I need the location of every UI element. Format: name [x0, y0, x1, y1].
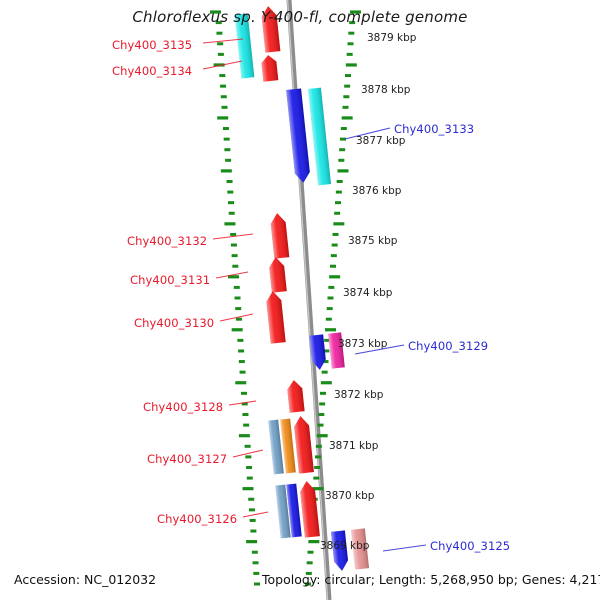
gene-feature[interactable] [308, 88, 331, 186]
leader-line [383, 545, 426, 551]
ruler-label: 3874 kbp [343, 287, 392, 299]
genome-summary-status: Topology: circular; Length: 5,268,950 bp… [262, 572, 600, 587]
ruler-label: 3875 kbp [348, 235, 397, 247]
gene-label-chy400_3129[interactable]: Chy400_3129 [408, 339, 488, 353]
gene-label-chy400_3130[interactable]: Chy400_3130 [134, 316, 214, 330]
gene-label-chy400_3127[interactable]: Chy400_3127 [147, 452, 227, 466]
ruler-label: 3879 kbp [367, 32, 416, 44]
gene-label-chy400_3133[interactable]: Chy400_3133 [394, 122, 474, 136]
gene-label-chy400_3125[interactable]: Chy400_3125 [430, 539, 510, 553]
gene-feature[interactable] [268, 256, 287, 292]
ruler-label: 3876 kbp [352, 185, 401, 197]
ruler-label: 3877 kbp [356, 135, 405, 147]
gene-label-chy400_3132[interactable]: Chy400_3132 [127, 234, 207, 248]
gene-feature[interactable] [265, 290, 285, 343]
ruler-label: 3873 kbp [338, 338, 387, 350]
gene-feature[interactable] [286, 379, 304, 412]
gene-label-chy400_3134[interactable]: Chy400_3134 [112, 64, 192, 78]
gene-feature[interactable] [293, 415, 314, 473]
gene-label-chy400_3135[interactable]: Chy400_3135 [112, 38, 192, 52]
gene-feature[interactable] [261, 54, 279, 81]
gene-label-chy400_3126[interactable]: Chy400_3126 [157, 512, 237, 526]
accession-status: Accession: NC_012032 [14, 572, 156, 587]
gene-feature[interactable] [270, 212, 290, 258]
ruler-label: 3878 kbp [361, 84, 410, 96]
gene-label-chy400_3131[interactable]: Chy400_3131 [130, 273, 210, 287]
leader-line [243, 512, 268, 517]
ruler-label: 3870 kbp [325, 490, 374, 502]
page-title: Chloroflexus sp. Y-400-fl, complete geno… [0, 8, 600, 26]
genome-map-canvas[interactable]: Chloroflexus sp. Y-400-fl, complete geno… [0, 0, 600, 600]
gene-feature[interactable] [286, 88, 311, 183]
gene-label-chy400_3128[interactable]: Chy400_3128 [143, 400, 223, 414]
ruler-label: 3871 kbp [329, 440, 378, 452]
ruler-label: 3869 kbp [320, 540, 369, 552]
genome-map-svg[interactable] [0, 0, 600, 600]
leader-line [203, 61, 242, 69]
ruler-label: 3872 kbp [334, 389, 383, 401]
